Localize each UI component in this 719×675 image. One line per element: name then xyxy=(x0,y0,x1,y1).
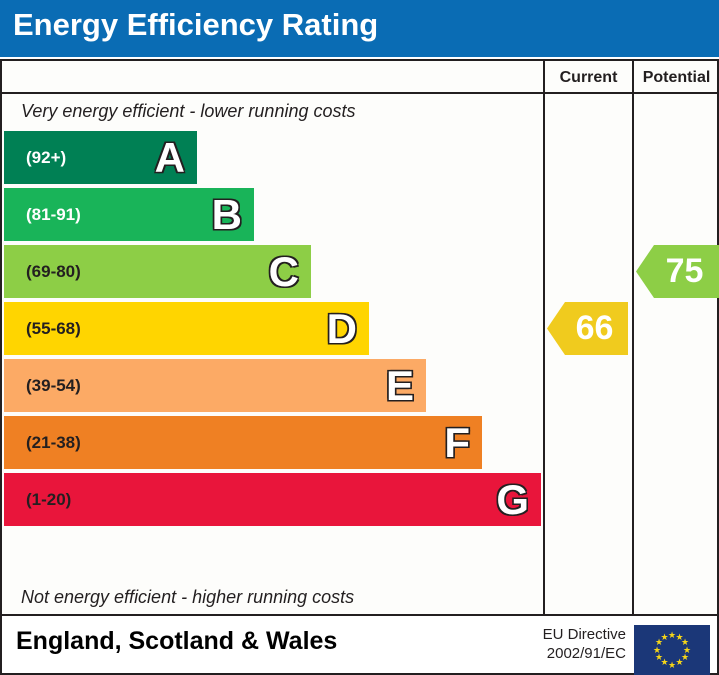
potential-rating-badge: 75 xyxy=(636,245,719,298)
band-letter-e: E xyxy=(386,365,414,407)
eu-directive-line1: EU Directive xyxy=(543,625,626,644)
band-bar-a: (92+)A xyxy=(4,131,197,184)
rating-table: Current Potential Very energy efficient … xyxy=(0,59,719,616)
caption-very-efficient: Very energy efficient - lower running co… xyxy=(4,94,543,129)
band-range-d: (55-68) xyxy=(26,302,81,355)
band-bar-c: (69-80)C xyxy=(4,245,311,298)
band-bar-e: (39-54)E xyxy=(4,359,426,412)
band-range-a: (92+) xyxy=(26,131,66,184)
eu-star-icon: ★ xyxy=(660,633,669,642)
column-divider-potential xyxy=(632,61,634,614)
energy-efficiency-rating-certificate: Energy Efficiency Rating Current Potenti… xyxy=(0,0,719,675)
current-rating-badge: 66 xyxy=(547,302,628,355)
eu-directive-line2: 2002/91/EC xyxy=(543,644,626,663)
eu-flag-icon: ★★★★★★★★★★★★ xyxy=(634,625,710,675)
column-header-current: Current xyxy=(545,61,632,94)
band-letter-d: D xyxy=(327,308,357,350)
footer-bar: England, Scotland & Wales EU Directive 2… xyxy=(0,616,719,675)
band-letter-f: F xyxy=(444,422,470,464)
band-bar-d: (55-68)D xyxy=(4,302,369,355)
caption-not-efficient: Not energy efficient - higher running co… xyxy=(4,580,543,615)
region-label: England, Scotland & Wales xyxy=(16,627,337,656)
column-divider-current xyxy=(543,61,545,614)
column-header-potential: Potential xyxy=(634,61,719,94)
band-letter-a: A xyxy=(155,137,185,179)
band-range-e: (39-54) xyxy=(26,359,81,412)
band-bar-f: (21-38)F xyxy=(4,416,482,469)
page-title: Energy Efficiency Rating xyxy=(13,7,378,43)
band-letter-b: B xyxy=(212,194,242,236)
band-letter-c: C xyxy=(269,251,299,293)
band-bar-b: (81-91)B xyxy=(4,188,254,241)
title-bar: Energy Efficiency Rating xyxy=(0,0,719,57)
band-range-f: (21-38) xyxy=(26,416,81,469)
band-letter-g: G xyxy=(496,479,529,521)
band-range-g: (1-20) xyxy=(26,473,71,526)
band-bars-container: (92+)A(81-91)B(69-80)C(55-68)D(39-54)E(2… xyxy=(4,131,543,580)
band-range-b: (81-91) xyxy=(26,188,81,241)
band-range-c: (69-80) xyxy=(26,245,81,298)
band-bar-g: (1-20)G xyxy=(4,473,541,526)
eu-directive-label: EU Directive 2002/91/EC xyxy=(543,625,626,663)
